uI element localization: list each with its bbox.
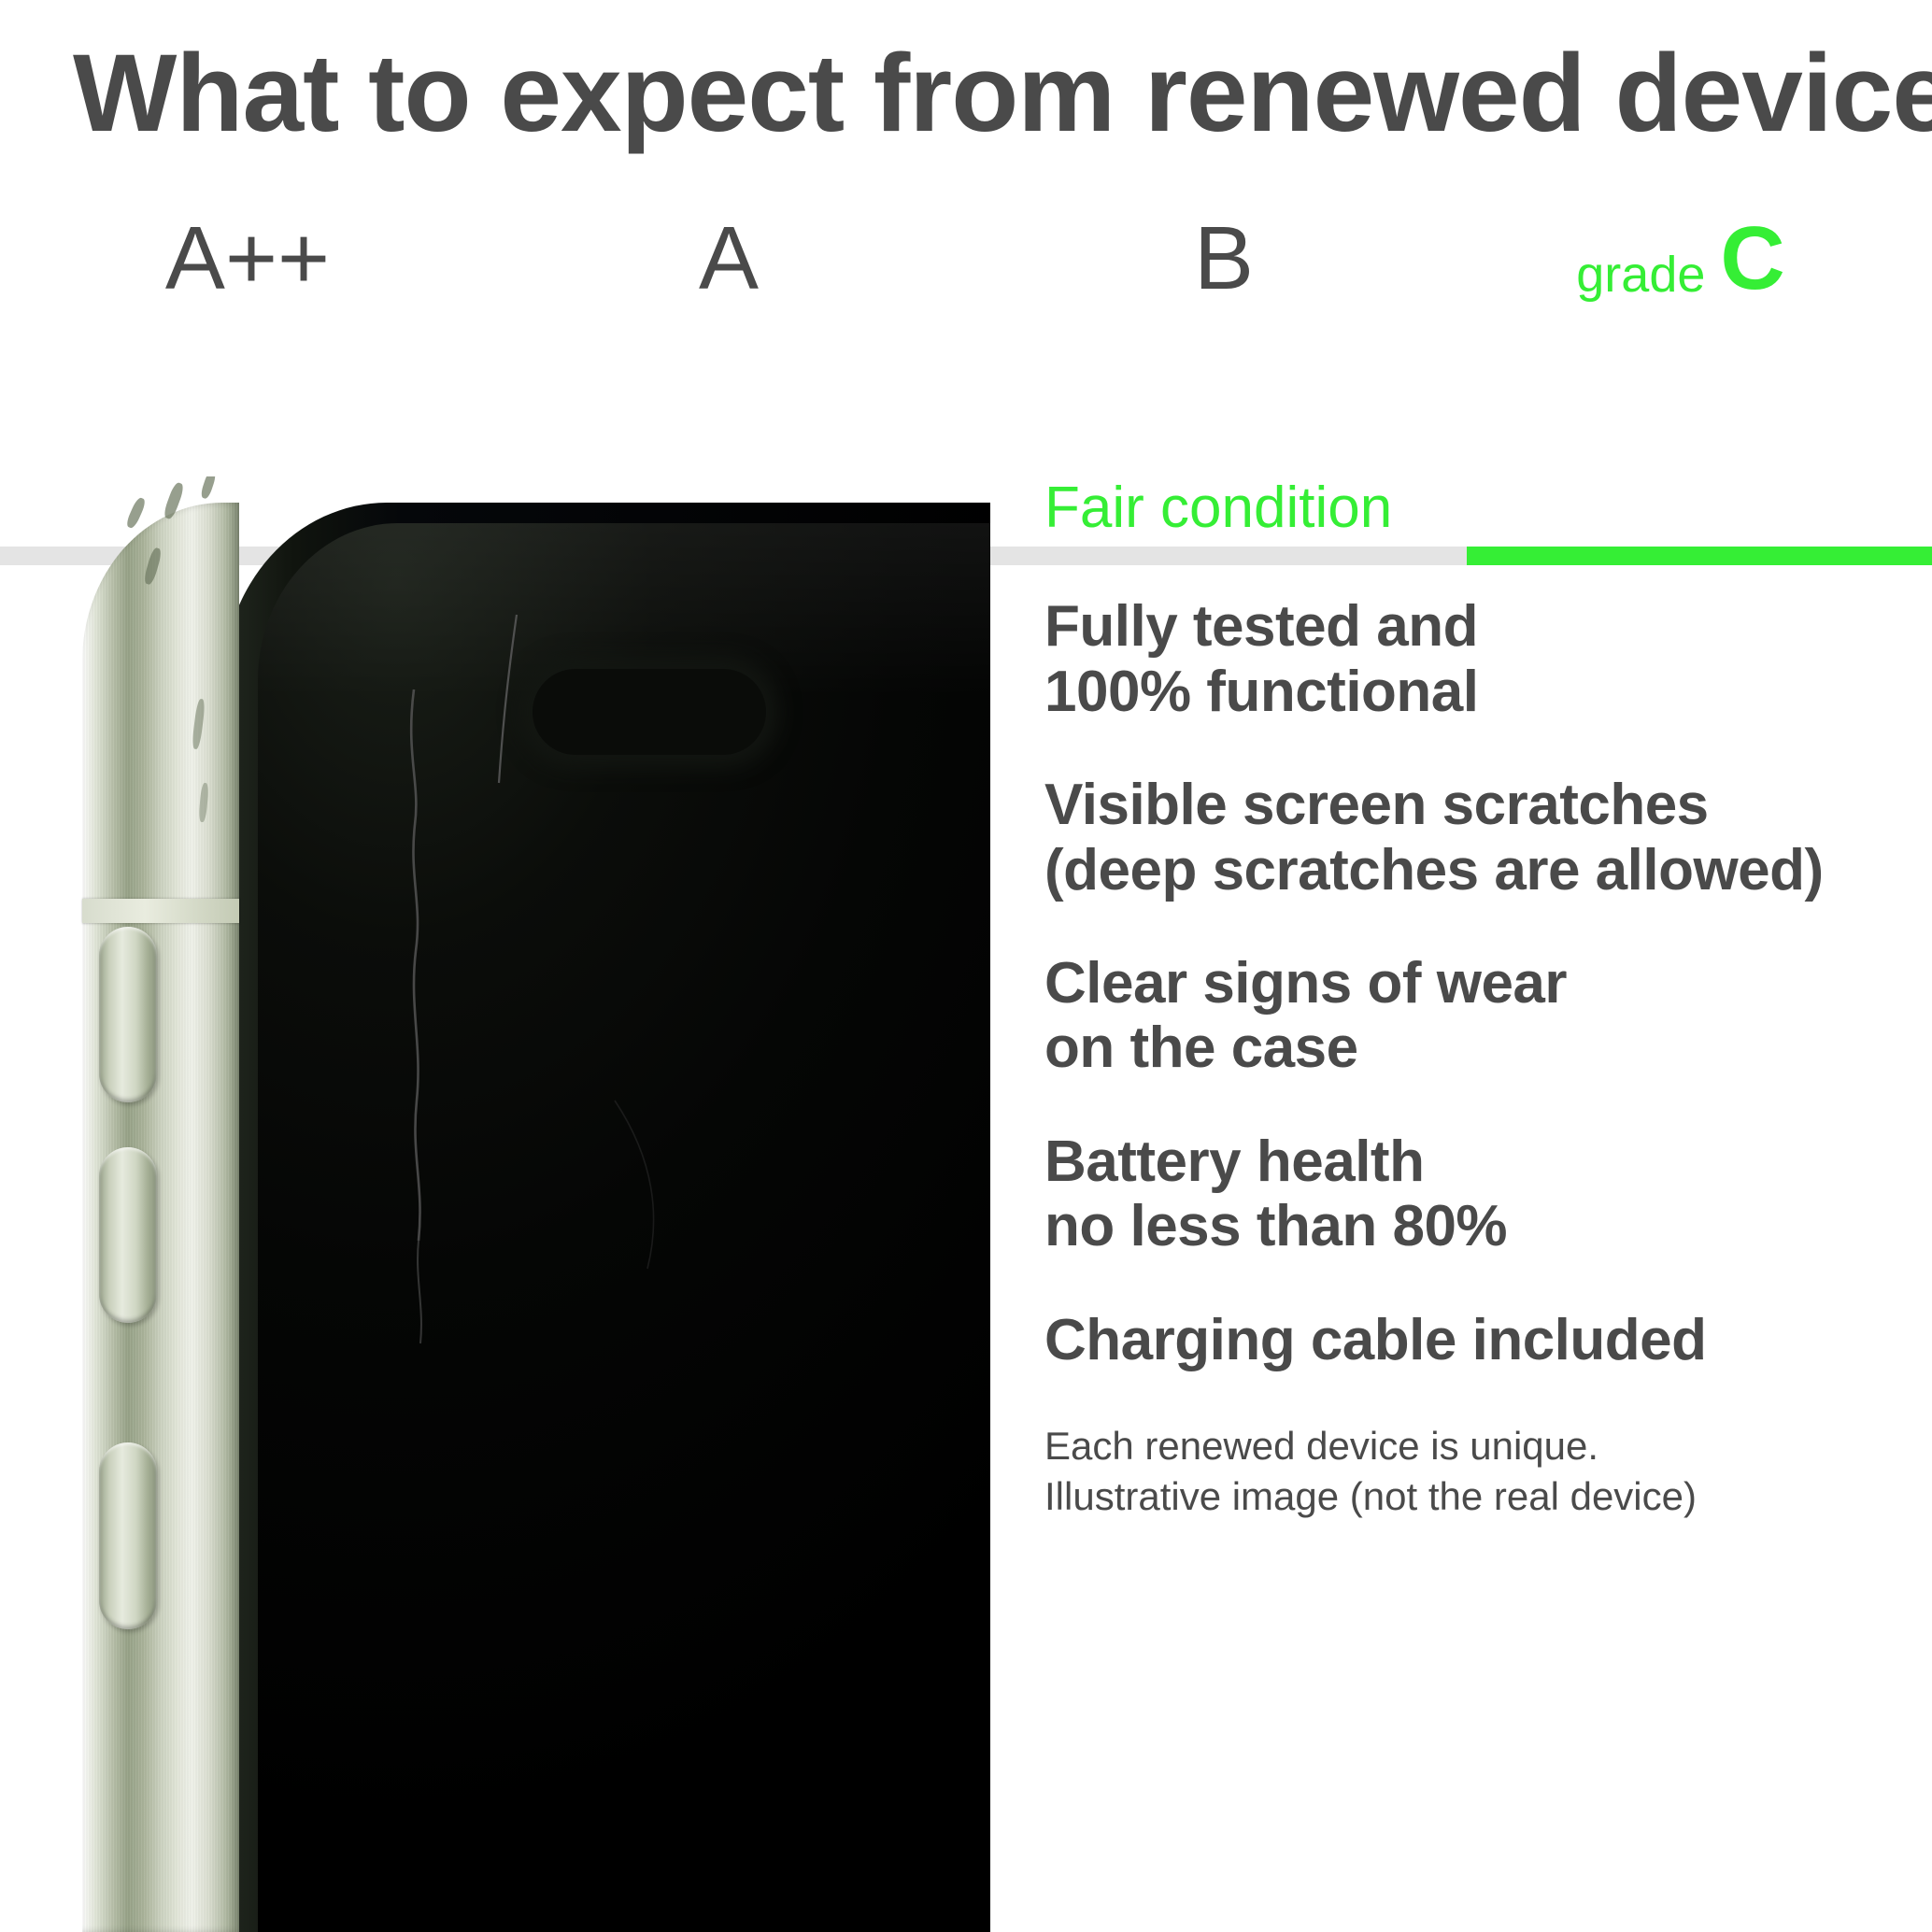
feature-item: Visible screen scratches (deep scratches…: [1044, 773, 1913, 902]
page-title: What to expect from renewed device?: [73, 34, 1932, 155]
tab-grade-prefix: grade: [1576, 249, 1705, 300]
power-button: [99, 1442, 157, 1629]
frame-scuff: [125, 496, 148, 530]
feature-item: Battery health no less than 80%: [1044, 1129, 1913, 1259]
tab-label: C: [1720, 214, 1784, 304]
tab-label: A: [699, 214, 759, 304]
tab-label: B: [1194, 214, 1254, 304]
antenna-band: [82, 899, 239, 923]
volume-up-button: [99, 927, 157, 1102]
tab-grade-a-plus-plus[interactable]: A++: [65, 201, 430, 304]
tab-label: A++: [165, 214, 330, 304]
device-image: [0, 476, 990, 1932]
grade-details: Fair condition Fully tested and 100% fun…: [1044, 476, 1913, 1522]
tab-grade-a[interactable]: A: [523, 201, 934, 304]
grade-info-card: What to expect from renewed device? A++ …: [0, 0, 1932, 1932]
tab-grade-b[interactable]: B: [1018, 201, 1429, 304]
tab-grade-c[interactable]: grade C: [1429, 201, 1932, 304]
phone-illustration: [82, 503, 990, 1932]
condition-label: Fair condition: [1044, 476, 1913, 540]
grade-tabs: A++ A B grade C: [0, 201, 1932, 364]
disclaimer-text: Each renewed device is unique. Illustrat…: [1044, 1421, 1913, 1522]
volume-down-button: [99, 1147, 157, 1323]
feature-item: Charging cable included: [1044, 1308, 1913, 1372]
feature-item: Clear signs of wear on the case: [1044, 951, 1913, 1081]
feature-item: Fully tested and 100% functional: [1044, 594, 1913, 724]
frame-scuff: [200, 476, 218, 500]
screen-scratches: [222, 503, 990, 1932]
